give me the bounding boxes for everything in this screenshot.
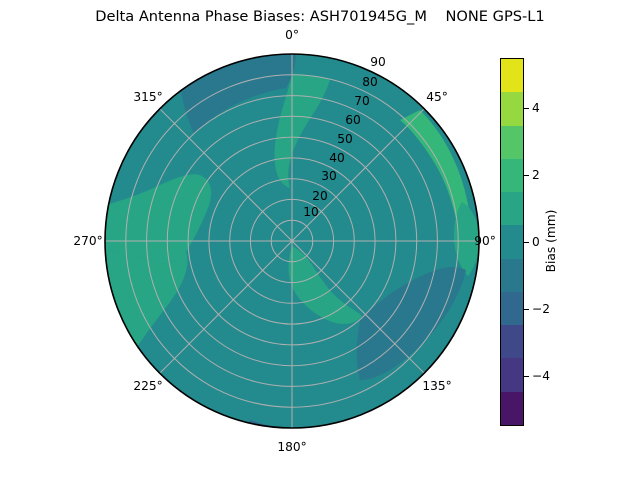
radial-label-60: 60 xyxy=(345,113,361,127)
colorbar-tick-label: −2 xyxy=(532,302,550,316)
azimuth-label-180: 180° xyxy=(277,440,306,454)
radial-label-20: 20 xyxy=(312,189,328,203)
colorbar-tick xyxy=(524,242,529,243)
colorbar-tick-label: 0 xyxy=(532,235,540,249)
figure-canvas: Delta Antenna Phase Biases: ASH701945G_M… xyxy=(0,0,640,480)
azimuth-label-135: 135° xyxy=(422,379,451,393)
colorbar-tick xyxy=(524,108,529,109)
radial-label-70: 70 xyxy=(354,94,370,108)
azimuth-label-270: 270° xyxy=(73,234,102,248)
colorbar-band xyxy=(501,225,523,258)
azimuth-label-225: 225° xyxy=(133,379,162,393)
colorbar-band xyxy=(501,159,523,192)
colorbar-band xyxy=(501,358,523,391)
radial-label-80: 80 xyxy=(362,75,378,89)
colorbar-tick xyxy=(524,309,529,310)
colorbar-tick-label: 2 xyxy=(532,168,540,182)
colorbar-band xyxy=(501,92,523,125)
colorbar-band xyxy=(501,59,523,92)
colorbar-tick xyxy=(524,376,529,377)
colorbar-band xyxy=(501,292,523,325)
colorbar-band xyxy=(501,325,523,358)
radial-label-50: 50 xyxy=(337,132,353,146)
colorbar-tick-label: 4 xyxy=(532,101,540,115)
radial-label-90: 90 xyxy=(370,55,386,69)
colorbar-tick-label: −4 xyxy=(532,369,550,383)
colorbar[interactable]: 420−2−4 xyxy=(500,58,524,426)
colorbar-band xyxy=(501,392,523,425)
azimuth-label-315: 315° xyxy=(133,90,162,104)
colorbar-band xyxy=(501,126,523,159)
azimuth-label-0: 0° xyxy=(285,28,299,42)
azimuth-label-90: 90° xyxy=(474,234,496,248)
colorbar-band xyxy=(501,259,523,292)
radial-label-30: 30 xyxy=(321,169,337,183)
colorbar-gradient xyxy=(500,58,524,426)
colorbar-tick xyxy=(524,175,529,176)
colorbar-band xyxy=(501,192,523,225)
colorbar-axis-label: Bias (mm) xyxy=(544,210,558,273)
azimuth-label-45: 45° xyxy=(426,90,448,104)
radial-label-10: 10 xyxy=(303,205,319,219)
polar-grid xyxy=(105,54,479,428)
radial-label-40: 40 xyxy=(329,151,345,165)
